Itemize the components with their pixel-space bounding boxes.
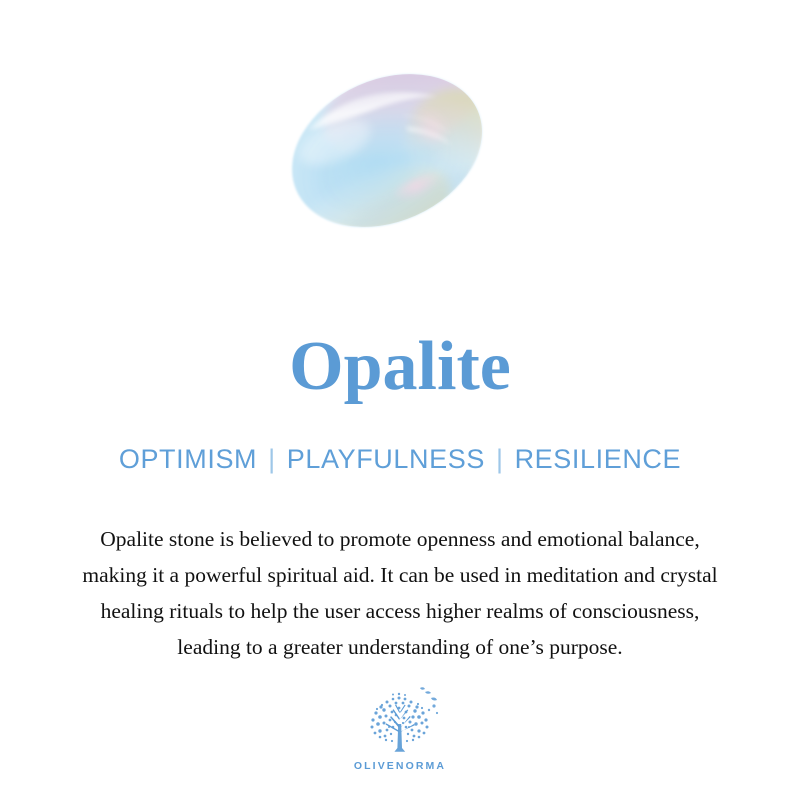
- keyword-separator: |: [257, 444, 287, 474]
- description-line: leading to a greater understanding of on…: [20, 629, 780, 665]
- description-paragraph: Opalite stone is believed to promote ope…: [20, 521, 780, 665]
- keyword-resilience: RESILIENCE: [515, 444, 682, 474]
- gemstone-image-area: [0, 0, 800, 300]
- gemstone-photo: [287, 78, 487, 223]
- description-line: healing rituals to help the user access …: [20, 593, 780, 629]
- description-line: making it a powerful spiritual aid. It c…: [20, 557, 780, 593]
- opalite-info-card: Opalite OPTIMISM|PLAYFULNESS|RESILIENCE …: [0, 0, 800, 800]
- keyword-playfulness: PLAYFULNESS: [287, 444, 485, 474]
- keyword-separator: |: [485, 444, 515, 474]
- opalite-cabochon-icon: [266, 44, 508, 258]
- brand-logo: OLIVENORMA: [0, 686, 800, 772]
- keyword-list: OPTIMISM|PLAYFULNESS|RESILIENCE: [0, 444, 800, 475]
- description-line: Opalite stone is believed to promote ope…: [20, 521, 780, 557]
- keyword-optimism: OPTIMISM: [119, 444, 257, 474]
- tree-logo-icon: [359, 686, 441, 758]
- brand-name: OLIVENORMA: [0, 760, 800, 772]
- page-title: Opalite: [0, 332, 800, 402]
